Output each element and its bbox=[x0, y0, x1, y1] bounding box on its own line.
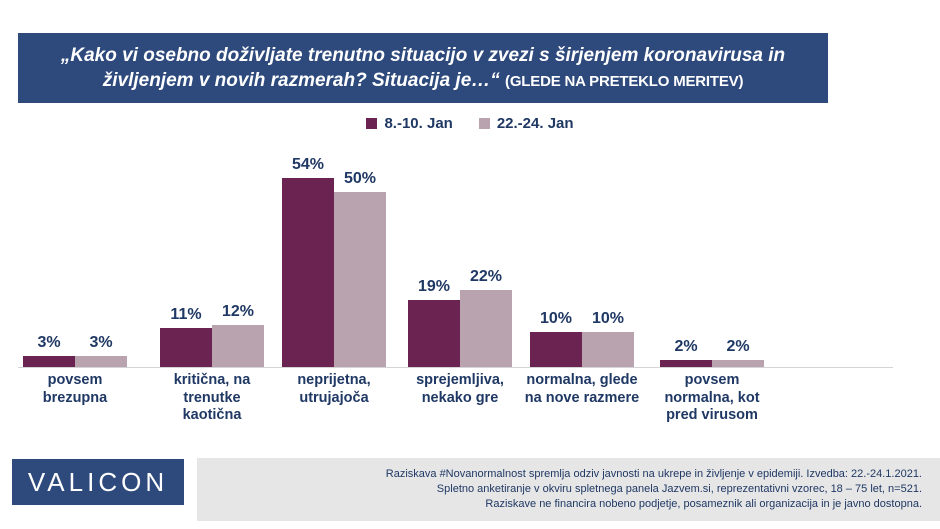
legend-item-1[interactable]: 22.-24. Jan bbox=[479, 115, 574, 132]
bar-value-label: 50% bbox=[334, 170, 386, 188]
footer-note-line-2: Raziskave ne financira nobeno podjetje, … bbox=[485, 497, 922, 512]
category-label-line: pred virusom bbox=[644, 407, 780, 425]
bar-group: 19%22% bbox=[408, 143, 512, 367]
bar-series1[interactable] bbox=[160, 328, 212, 367]
bar-slot: 50% bbox=[334, 143, 386, 367]
bar-series2[interactable] bbox=[582, 332, 634, 367]
category-label-4: normalna, gledena nove razmere bbox=[514, 372, 650, 407]
bar-slot: 2% bbox=[712, 143, 764, 367]
category-label-line: normalna, kot bbox=[644, 390, 780, 408]
bar-slot: 10% bbox=[530, 143, 582, 367]
bar-series2[interactable] bbox=[712, 360, 764, 367]
bar-pair: 54%50% bbox=[282, 143, 386, 367]
category-label-line: trenutke bbox=[144, 390, 280, 408]
bar-slot: 19% bbox=[408, 143, 460, 367]
bar-series1[interactable] bbox=[530, 332, 582, 367]
bar-series1[interactable] bbox=[408, 300, 460, 367]
bar-group: 11%12% bbox=[160, 143, 264, 367]
chart-title-subtitle: (GLEDE NA PRETEKLO MERITEV) bbox=[505, 73, 743, 90]
bar-series1[interactable] bbox=[282, 178, 334, 367]
bar-series1[interactable] bbox=[23, 356, 75, 367]
bar-slot: 2% bbox=[660, 143, 712, 367]
category-label-line: nekako gre bbox=[392, 390, 528, 408]
bar-value-label: 54% bbox=[282, 156, 334, 174]
valicon-logo: VALICON bbox=[12, 459, 184, 505]
category-label-line: sprejemljiva, bbox=[392, 372, 528, 390]
bar-pair: 11%12% bbox=[160, 143, 264, 367]
bar-series2[interactable] bbox=[334, 192, 386, 367]
bar-slot: 54% bbox=[282, 143, 334, 367]
bar-slot: 3% bbox=[75, 143, 127, 367]
bar-value-label: 10% bbox=[530, 310, 582, 328]
bar-series1[interactable] bbox=[660, 360, 712, 367]
chart-title-line-2: življenjem v novih razmerah? Situacija j… bbox=[103, 68, 744, 94]
bar-value-label: 3% bbox=[75, 334, 127, 352]
bar-pair: 19%22% bbox=[408, 143, 512, 367]
category-label-line: kritična, na bbox=[144, 372, 280, 390]
category-label-line: kaotična bbox=[144, 407, 280, 425]
category-label-line: normalna, glede bbox=[514, 372, 650, 390]
category-label-0: povsembrezupna bbox=[7, 372, 143, 407]
legend-swatch-icon bbox=[479, 118, 490, 129]
legend-item-label: 8.-10. Jan bbox=[384, 115, 452, 132]
category-label-line: brezupna bbox=[7, 390, 143, 408]
legend-item-0[interactable]: 8.-10. Jan bbox=[366, 115, 452, 132]
chart-title-banner: „Kako vi osebno doživljate trenutno situ… bbox=[18, 33, 828, 103]
bar-value-label: 11% bbox=[160, 306, 212, 324]
bar-value-label: 19% bbox=[408, 278, 460, 296]
chart-plot-area: 3%3%11%12%54%50%19%22%10%10%2%2% bbox=[0, 140, 940, 368]
footer-note-line-1: Spletno anketiranje v okviru spletnega p… bbox=[437, 482, 922, 497]
chart-title-line-1: „Kako vi osebno doživljate trenutno situ… bbox=[61, 43, 785, 68]
category-label-line: utrujajoča bbox=[266, 390, 402, 408]
bar-group: 10%10% bbox=[530, 143, 634, 367]
bar-series2[interactable] bbox=[212, 325, 264, 367]
chart-legend: 8.-10. Jan22.-24. Jan bbox=[0, 115, 940, 132]
bar-group: 54%50% bbox=[282, 143, 386, 367]
category-label-line: povsem bbox=[644, 372, 780, 390]
legend-item-label: 22.-24. Jan bbox=[497, 115, 574, 132]
category-label-line: neprijetna, bbox=[266, 372, 402, 390]
bar-value-label: 3% bbox=[23, 334, 75, 352]
category-label-3: sprejemljiva,nekako gre bbox=[392, 372, 528, 407]
bar-value-label: 12% bbox=[212, 303, 264, 321]
bar-slot: 22% bbox=[460, 143, 512, 367]
bar-series2[interactable] bbox=[75, 356, 127, 367]
bar-slot: 3% bbox=[23, 143, 75, 367]
bar-slot: 12% bbox=[212, 143, 264, 367]
bar-value-label: 2% bbox=[712, 338, 764, 356]
footer-note-panel: Raziskava #Novanormalnost spremlja odziv… bbox=[197, 458, 940, 521]
bar-group: 3%3% bbox=[23, 143, 127, 367]
category-label-line: povsem bbox=[7, 372, 143, 390]
bar-series2[interactable] bbox=[460, 290, 512, 367]
bar-pair: 3%3% bbox=[23, 143, 127, 367]
valicon-logo-text: VALICON bbox=[28, 467, 168, 498]
bar-slot: 11% bbox=[160, 143, 212, 367]
bar-value-label: 10% bbox=[582, 310, 634, 328]
bar-group: 2%2% bbox=[660, 143, 764, 367]
bar-pair: 10%10% bbox=[530, 143, 634, 367]
category-label-5: povsemnormalna, kotpred virusom bbox=[644, 372, 780, 425]
bar-value-label: 22% bbox=[460, 268, 512, 286]
bar-slot: 10% bbox=[582, 143, 634, 367]
chart-title-main: življenjem v novih razmerah? Situacija j… bbox=[103, 70, 500, 91]
chart-category-labels: povsembrezupnakritična, natrenutkekaotič… bbox=[0, 372, 940, 436]
category-label-line: na nove razmere bbox=[514, 390, 650, 408]
bar-value-label: 2% bbox=[660, 338, 712, 356]
legend-swatch-icon bbox=[366, 118, 377, 129]
category-label-2: neprijetna,utrujajoča bbox=[266, 372, 402, 407]
chart-axis-baseline bbox=[18, 367, 893, 368]
category-label-1: kritična, natrenutkekaotična bbox=[144, 372, 280, 425]
bar-pair: 2%2% bbox=[660, 143, 764, 367]
footer-note-line-0: Raziskava #Novanormalnost spremlja odziv… bbox=[386, 467, 922, 482]
